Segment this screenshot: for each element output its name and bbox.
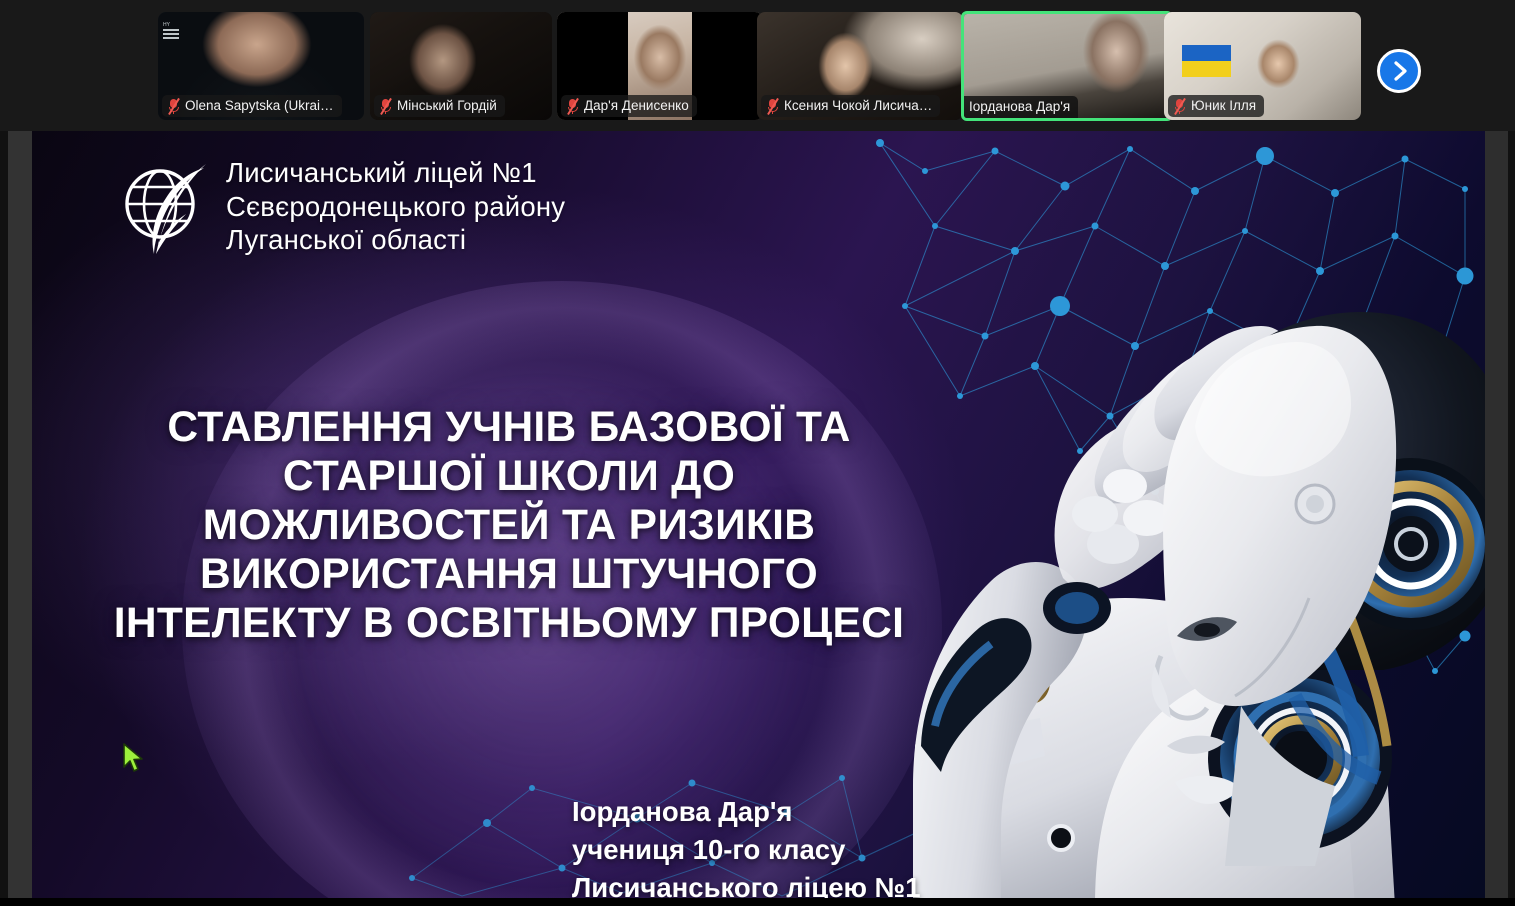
participant-name-pill-2: Мінський Гордій (374, 95, 505, 117)
participant-name-pill-1: Olena Sapytska (Ukrai… (162, 95, 342, 117)
screen-left-border (8, 131, 32, 898)
globe-leaf-logo (120, 160, 208, 256)
participant-tile-4[interactable]: Ксения Чокой Лисича… (757, 12, 963, 120)
ukraine-flag-icon (1182, 45, 1231, 77)
letterbox-right-3 (692, 12, 763, 120)
participant-name-1: Olena Sapytska (Ukrai… (185, 95, 334, 117)
participant-name-pill-5: Іорданова Дар'я (964, 96, 1078, 118)
participant-name-2: Мінський Гордій (397, 95, 497, 117)
mic-muted-icon (167, 98, 180, 114)
mic-muted-icon (1173, 98, 1186, 114)
participant-name-pill-3: Дар'я Денисенко (561, 95, 697, 117)
participant-filmstrip: HY Olena Sapytska (Ukrai… Мінський Горді… (0, 0, 1515, 131)
shared-screen-area: Лисичанський ліцей №1 Сєвєродонецького р… (0, 131, 1515, 906)
participant-tile-6[interactable]: Юник Ілля (1164, 12, 1361, 120)
slide-title: СТАВЛЕННЯ УЧНІВ БАЗОВОЇ ТА СТАРШОЇ ШКОЛИ… (44, 403, 974, 648)
screen-right-border (1485, 131, 1508, 898)
participant-tile-5-active-speaker[interactable]: Іорданова Дар'я (961, 11, 1173, 121)
mouse-pointer-icon (122, 743, 144, 773)
mic-muted-icon (379, 98, 392, 114)
school-logo-block: Лисичанський ліцей №1 Сєвєродонецького р… (120, 156, 565, 257)
svg-text:HY: HY (163, 22, 171, 28)
participant-name-6: Юник Ілля (1191, 95, 1256, 117)
participant-name-pill-4: Ксения Чокой Лисича… (761, 95, 940, 117)
participant-tile-2[interactable]: Мінський Гордій (370, 12, 552, 120)
participant-name-pill-6: Юник Ілля (1168, 95, 1264, 117)
school-name: Лисичанський ліцей №1 Сєвєродонецького р… (226, 156, 565, 257)
participant-name-4: Ксения Чокой Лисича… (784, 95, 932, 117)
screen-bottom-border (0, 898, 1515, 906)
mic-muted-icon (566, 98, 579, 114)
participant-name-5: Іорданова Дар'я (969, 96, 1070, 118)
mic-muted-icon (766, 98, 779, 114)
participant-name-3: Дар'я Денисенко (584, 95, 689, 117)
participant-tile-3[interactable]: Дар'я Денисенко (557, 12, 763, 120)
background-logo-1: HY (160, 16, 186, 50)
next-participants-button[interactable] (1377, 49, 1421, 93)
chevron-right-icon (1392, 60, 1409, 82)
zoom-meeting-window: HY Olena Sapytska (Ukrai… Мінський Горді… (0, 0, 1515, 906)
presentation-slide: Лисичанський ліцей №1 Сєвєродонецького р… (32, 131, 1485, 898)
slide-author: Іорданова Дар'я учениця 10-го класу Лиси… (572, 793, 1042, 898)
participant-tile-1[interactable]: HY Olena Sapytska (Ukrai… (158, 12, 364, 120)
